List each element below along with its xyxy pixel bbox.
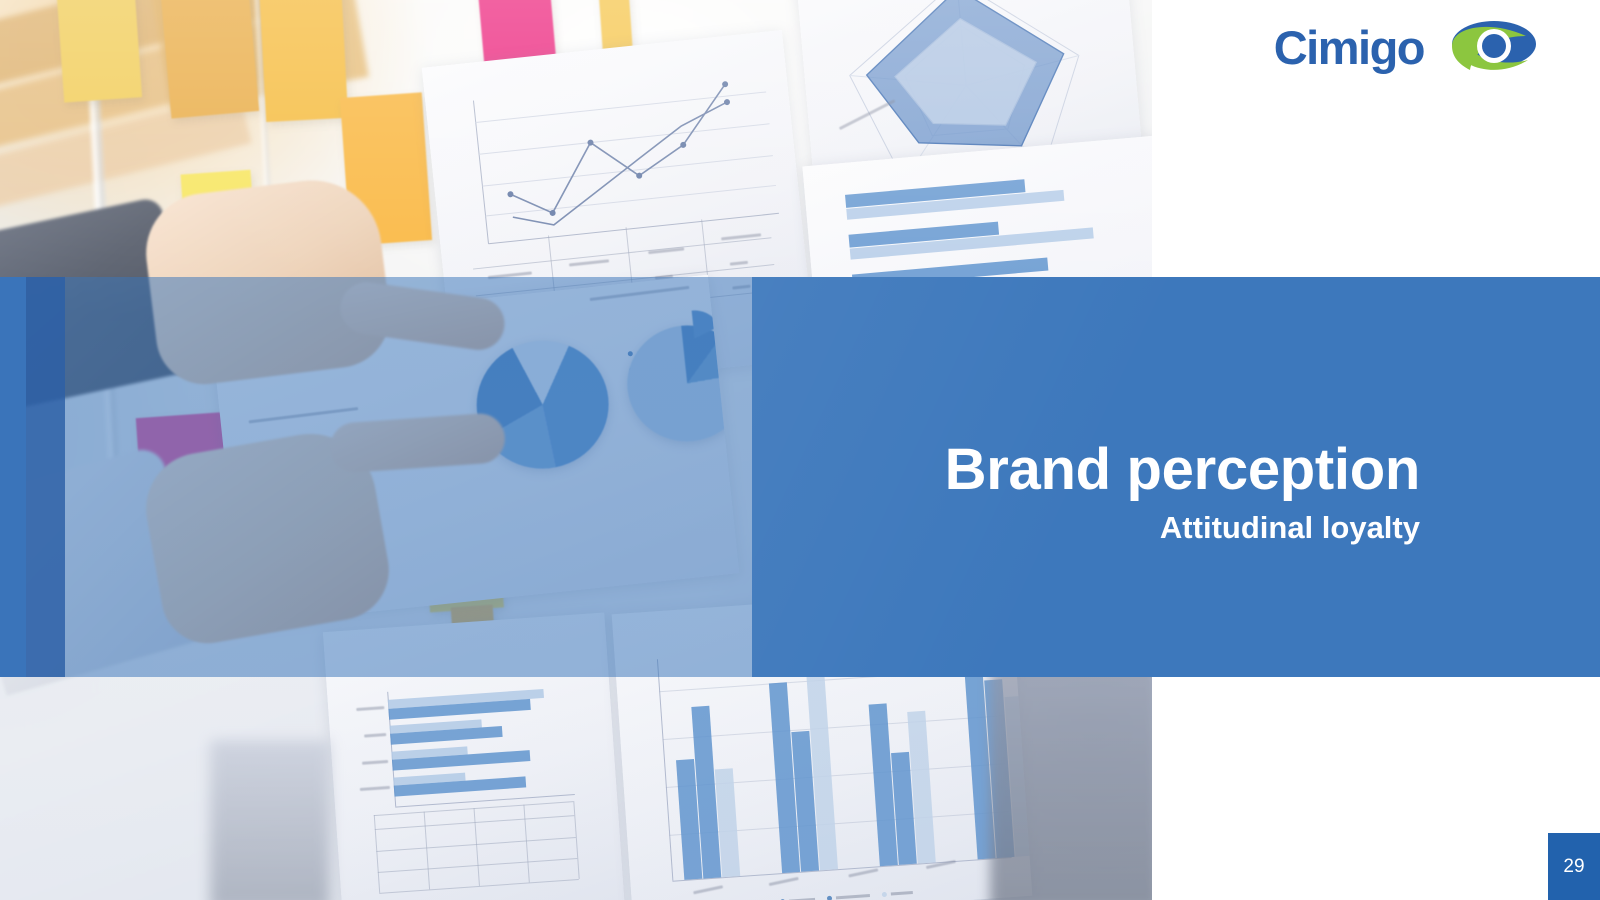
axis-tick-label [693,885,723,894]
axis-tick-label [769,877,799,886]
chart-axis [395,794,575,808]
accent-band-left-dark [26,277,65,677]
sticky-note [56,0,142,103]
table-rule [374,815,380,893]
table-text [569,259,609,266]
accent-band-left-solid [0,277,26,677]
axis-label [360,786,390,791]
table-rule [474,808,480,886]
sticky-note [597,0,633,53]
column-chart-legend [780,890,913,900]
table-rule [573,801,579,879]
axis-label [364,733,386,738]
page-number-box: 29 [1548,833,1600,900]
page-number: 29 [1563,857,1584,876]
sticky-note [258,0,348,122]
cimigo-eye-icon [1440,18,1548,76]
table-text [648,247,684,254]
page-title: Brand perception [600,440,1420,501]
table-rule [523,805,529,883]
axis-label [362,760,388,765]
table-rule [424,812,430,890]
axis-label [356,706,384,711]
axis-tick-label [848,868,878,877]
background-equipment [210,740,330,900]
table-text [730,261,748,266]
sticky-note [159,0,259,119]
title-block: Brand perception Attitudinal loyalty [600,440,1420,545]
slide: Brand perception Attitudinal loyalty Cim… [0,0,1600,900]
cimigo-logo: Cimigo [1274,18,1548,76]
page-subtitle: Attitudinal loyalty [600,511,1420,545]
line-chart [445,61,791,265]
logo-wordmark: Cimigo [1274,24,1424,71]
